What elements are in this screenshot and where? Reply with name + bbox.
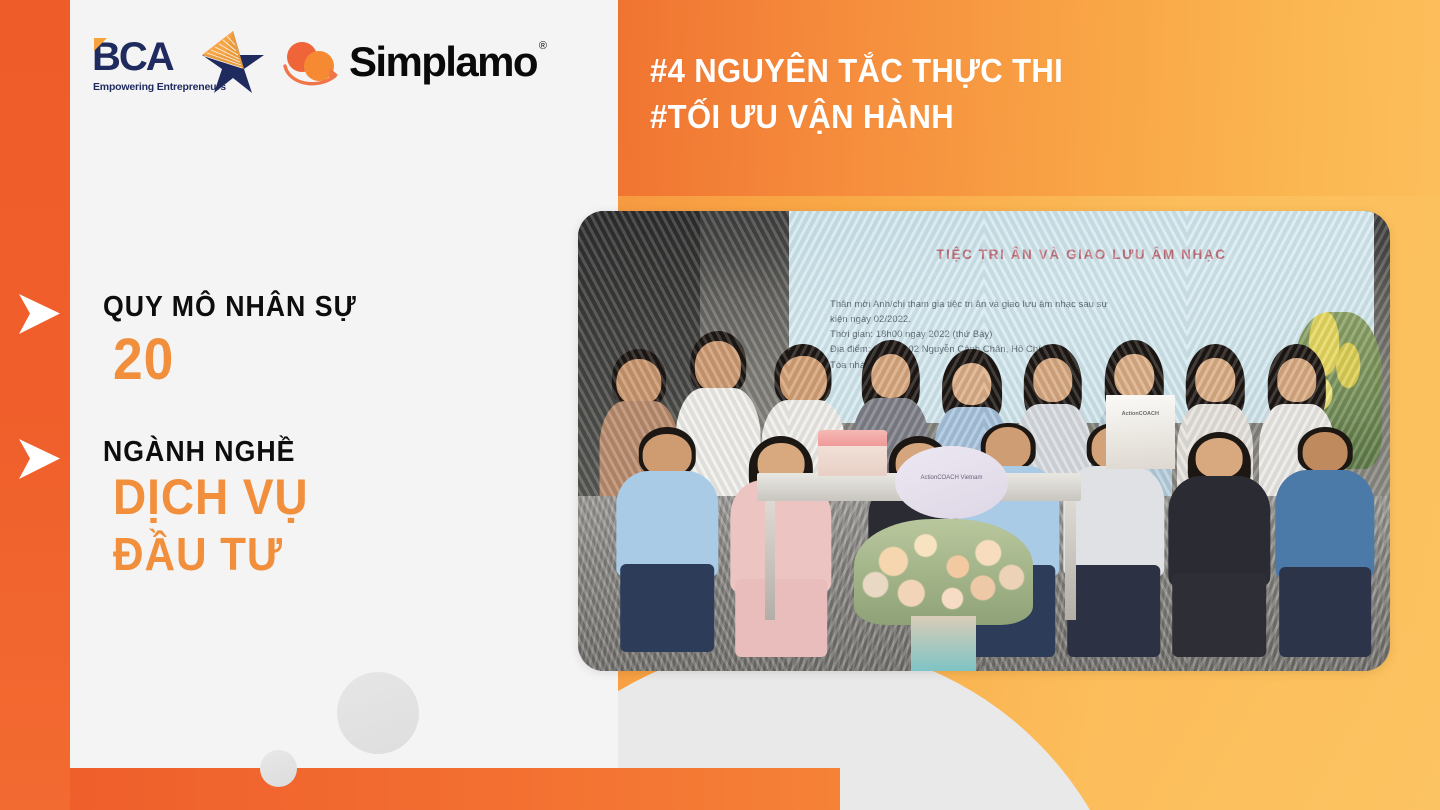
photo-bag-text: ActionCOACH [1122,411,1159,417]
photo-person [1276,427,1373,652]
simplamo-logo: Simplamo ® [283,38,549,90]
stat-industry-label: NGÀNH NGHỀ [103,436,308,469]
decorative-circle-small [260,750,297,787]
bottom-orange-band [0,768,840,810]
arrow-right-icon [16,292,63,336]
stat-industry-value: DỊCH VỤ [113,469,309,525]
stat-headcount-value: 20 [113,328,358,393]
decorative-circle-medium [337,672,419,754]
stat-headcount: QUY MÔ NHÂN SỰ 20 [103,291,379,393]
photo-cake [818,430,887,476]
simplamo-wordmark: Simplamo [349,41,537,83]
header-line-2: #TỐI ƯU VẬN HÀNH [650,94,1364,140]
photo-sign-text: ActionCOACH Vietnam [921,475,983,481]
stat-industry-value-2: ĐẦU TƯ [113,529,309,581]
swoosh-icon [283,58,345,90]
stat-industry: NGÀNH NGHỀ DỊCH VỤ ĐẦU TƯ [103,436,326,581]
header-line-1: #4 NGUYÊN TẮC THỰC THI [650,48,1364,94]
slide-canvas: #4 NGUYÊN TẮC THỰC THI #TỐI ƯU VẬN HÀNH … [0,0,1440,810]
bca-logo: BCA Empowering Entrepreneurs [92,31,267,97]
photo-vase [911,616,976,671]
photo-person [732,436,829,652]
photo-sign: ActionCOACH Vietnam [895,446,1009,520]
simplamo-registered-mark: ® [539,40,547,52]
header-title: #4 NGUYÊN TẮC THỰC THI #TỐI ƯU VẬN HÀNH [650,48,1410,140]
logo-row: BCA Empowering Entrepreneurs [92,28,552,100]
star-icon [194,29,272,95]
arrow-right-icon [16,437,63,481]
photo-bag: ActionCOACH [1106,395,1175,469]
photo-person [619,427,716,648]
simplamo-mark-icon [283,38,345,90]
bca-wordmark: BCA [92,37,173,77]
photo-flower-bouquet [854,519,1033,625]
stat-headcount-label: QUY MÔ NHÂN SỰ [103,291,357,324]
photo-person [1171,432,1268,653]
group-team-photo: TIỆC TRI ÂN VÀ GIAO LƯU ÂM NHẠC Thân mời… [578,211,1390,671]
left-orange-strip [0,0,70,810]
